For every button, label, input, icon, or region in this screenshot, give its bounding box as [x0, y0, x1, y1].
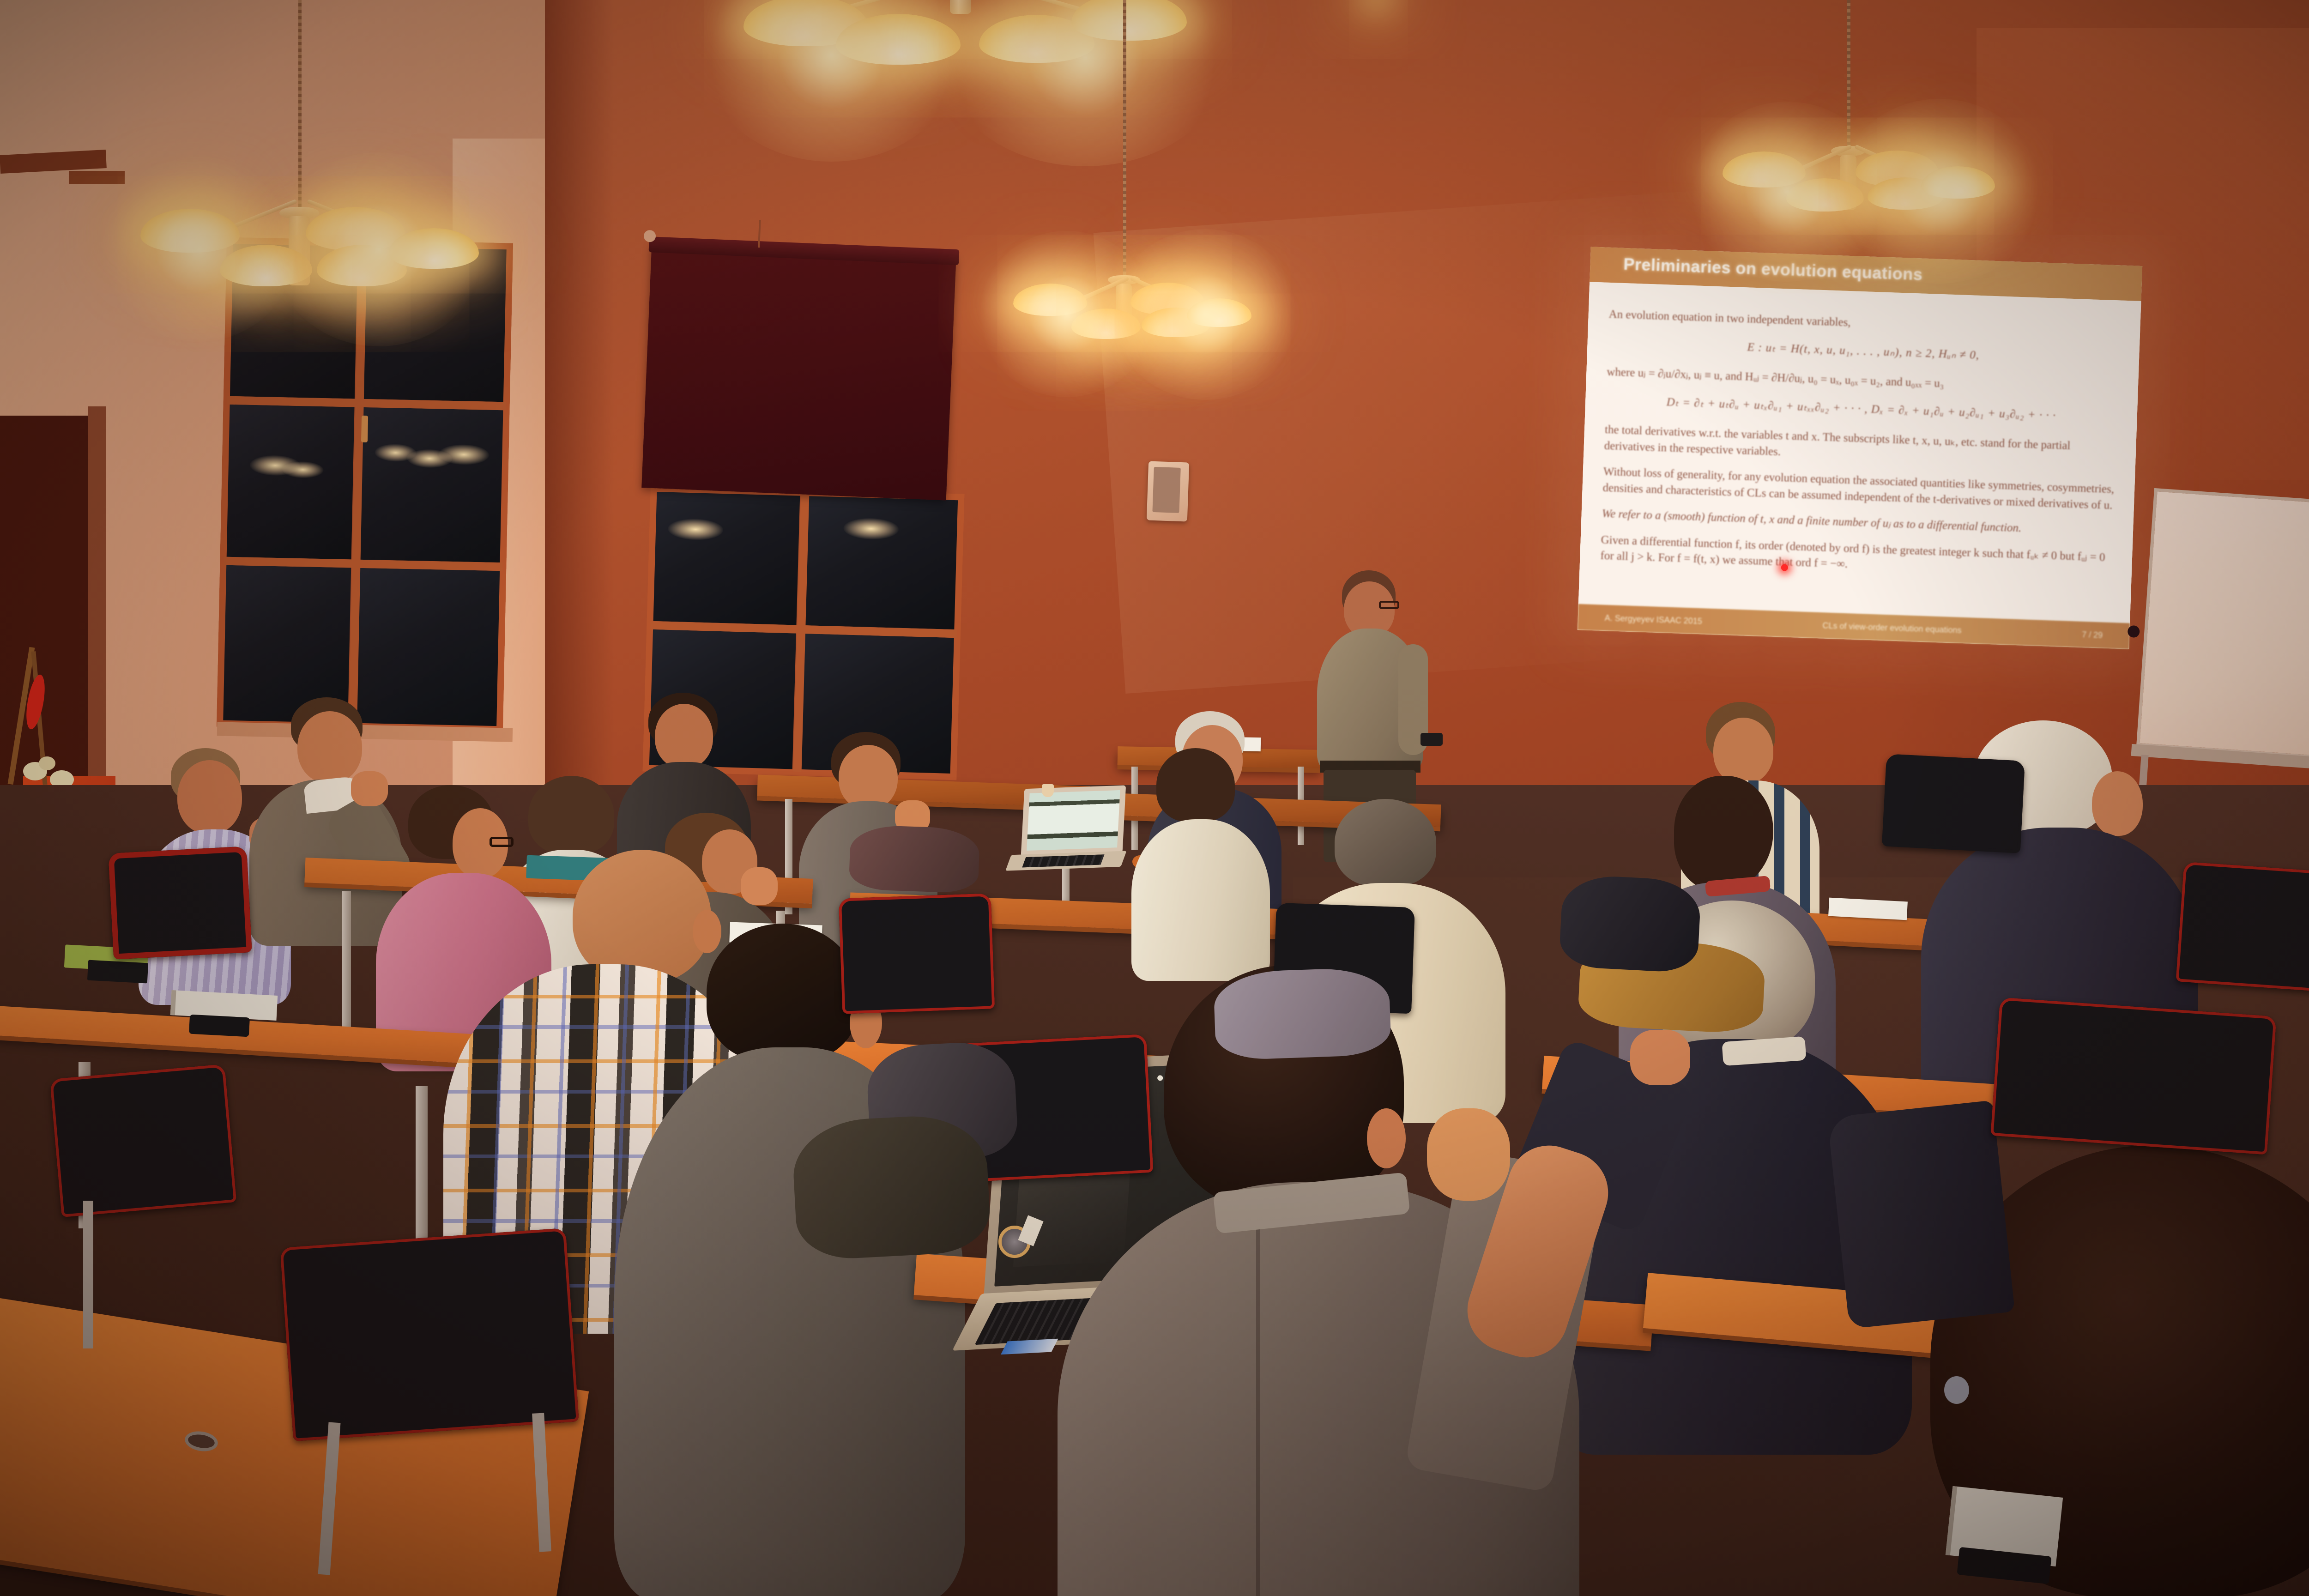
head: [297, 711, 362, 783]
folded-jacket-center: [1213, 967, 1391, 1060]
head-bald: [573, 850, 711, 984]
laptop-midground[interactable]: [1003, 785, 1130, 872]
window-blind[interactable]: [641, 243, 956, 500]
chandelier-left-front: [134, 0, 453, 300]
coffee-cup: [1042, 784, 1054, 797]
slide-footer-left: A. Sergyeyev ISAAC 2015: [1604, 613, 1702, 626]
desk-row3-left-leg-2: [416, 1086, 428, 1252]
slide-footer-center: CLs of view-order evolution equations: [1822, 621, 1962, 635]
bag-under-desk: [791, 1112, 991, 1261]
black-case: [87, 960, 148, 984]
bag-row2-left: [849, 824, 980, 894]
head: [839, 745, 898, 810]
laptop-midground-screen[interactable]: [1027, 790, 1120, 851]
watch-strap: [1018, 1215, 1043, 1246]
chair-row1-left[interactable]: [108, 846, 252, 959]
hair: [528, 776, 614, 854]
shirt-seam: [1256, 1224, 1260, 1596]
hair: [1335, 799, 1436, 887]
slide-body: An evolution equation in two independent…: [1578, 282, 2141, 623]
hand-to-face: [741, 867, 778, 905]
projection-screen: Preliminaries on evolution equations An …: [1578, 247, 2142, 649]
wall-speaker: [1147, 461, 1189, 522]
wall-rail-trim-2: [69, 171, 125, 184]
hand: [351, 771, 388, 806]
slide-line-1: An evolution equation in two independent…: [1608, 307, 2120, 340]
desk-row2-left-leg: [342, 891, 351, 1030]
presenter-glasses: [1379, 601, 1399, 609]
slide-equation-1: E : uₜ = H(t, x, u, u₁, . . . , uₙ), n ≥…: [1608, 334, 2119, 368]
chandelier-mid: [1007, 0, 1247, 379]
head: [177, 760, 242, 834]
chair-center[interactable]: [839, 893, 995, 1014]
slide-footer-right: 7 / 29: [2082, 630, 2103, 641]
head: [1713, 718, 1773, 784]
whiteboard-surface[interactable]: [2136, 488, 2309, 764]
ear: [1367, 1108, 1406, 1168]
ear: [693, 910, 721, 953]
chandelier-right: [1709, 0, 2004, 268]
lecture-room-photograph: Preliminaries on evolution equations An …: [0, 0, 2309, 1596]
dried-flowers: [14, 647, 97, 785]
wristwatch: [998, 1217, 1043, 1262]
slide-line-3: the total derivatives w.r.t. the variabl…: [1604, 422, 2116, 472]
slide-line-2: where uⱼ = ∂ⱼu/∂xⱼ, uⱼ ≡ u, and Hᵤⱼ = ∂H…: [1607, 364, 2118, 398]
chair-row2-left[interactable]: [50, 1064, 237, 1217]
speaker-grille: [1152, 467, 1180, 513]
slide-line-4: Without loss of generality, for any evol…: [1602, 464, 2115, 514]
hair: [707, 924, 859, 1062]
backpack-right: [1559, 874, 1702, 973]
projected-slide: Preliminaries on evolution equations An …: [1578, 247, 2142, 649]
chair-right-4[interactable]: [1882, 754, 2025, 853]
chair-right-2[interactable]: [1990, 997, 2276, 1155]
slide-line-6: Given a differential function f, its ord…: [1600, 532, 2112, 582]
chair-row3-left[interactable]: [280, 1228, 579, 1441]
navy-sleeve-bottom-right: [1827, 1100, 2015, 1329]
smartphone-row3[interactable]: [189, 1015, 250, 1037]
slide-equation-2: Dₜ = ∂ₜ + uₜ∂ᵤ + uₜₓ∂ᵤ₁ + uₜₓₓ∂ᵤ₂ + · · …: [1606, 392, 2117, 426]
chair-leg-3: [83, 1201, 93, 1348]
hand-on-chin: [1427, 1108, 1510, 1201]
head: [2092, 771, 2143, 836]
head: [655, 704, 713, 768]
hair: [1156, 748, 1235, 822]
chair-right-3[interactable]: [2176, 862, 2309, 995]
whiteboard[interactable]: [2132, 488, 2309, 828]
hand: [1630, 1030, 1690, 1085]
presenter-clicker[interactable]: [1420, 733, 1443, 746]
earring: [1944, 1376, 1969, 1404]
window-handle[interactable]: [361, 416, 368, 442]
glasses: [490, 837, 514, 847]
torso: [1131, 819, 1270, 981]
